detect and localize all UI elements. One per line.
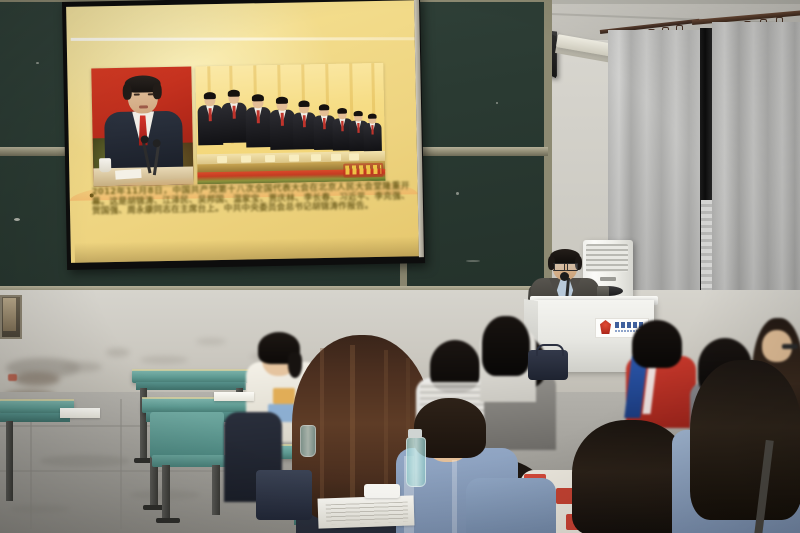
chair-leg bbox=[162, 465, 170, 521]
student-ponytail bbox=[482, 316, 530, 376]
student-long-hair bbox=[690, 360, 800, 520]
photo-banner-text bbox=[345, 165, 381, 175]
slide-portrait-photo bbox=[91, 67, 193, 187]
handbag bbox=[256, 470, 312, 520]
floor-seam bbox=[0, 470, 230, 472]
wall-stain bbox=[62, 362, 102, 372]
notebook-lines bbox=[326, 502, 409, 525]
slide-divider-line bbox=[71, 37, 417, 41]
denim-torso bbox=[466, 478, 556, 533]
photo-person-eye bbox=[148, 93, 154, 95]
chair-leg bbox=[212, 465, 220, 515]
slide-caption-text: 2012年11月8日，中国共产党第十八次全国代表大会在北京人民大会堂隆重开幕。这… bbox=[92, 182, 410, 217]
chalk-mark bbox=[14, 218, 20, 221]
photo-person-eye bbox=[134, 94, 140, 96]
projected-slide: 2012年11月8日，中国共产党第十八次全国代表大会在北京人民大会堂隆重开幕。这… bbox=[66, 0, 419, 263]
photo-paper bbox=[115, 169, 142, 180]
student-chair bbox=[150, 412, 224, 458]
projection-screen: 2012年11月8日，中国共产党第十八次全国代表大会在北京人民大会堂隆重开幕。这… bbox=[62, 0, 427, 274]
paper-sheet bbox=[214, 392, 254, 401]
chair-foot bbox=[156, 518, 180, 523]
water-bottle bbox=[300, 425, 316, 457]
photo-person-mouth bbox=[139, 105, 148, 108]
wall-stain bbox=[140, 356, 188, 364]
wall-stain bbox=[196, 338, 226, 345]
floor-scuff bbox=[10, 505, 70, 513]
water-bottle bbox=[406, 437, 426, 487]
photo-person-hair bbox=[123, 84, 132, 100]
floor-scuff bbox=[40, 455, 130, 467]
wall-paint-chip bbox=[8, 374, 17, 381]
bottle-cap bbox=[408, 429, 422, 438]
student-hair bbox=[632, 320, 682, 368]
tissue-pack bbox=[364, 484, 400, 498]
air-conditioner-vent-icon bbox=[586, 244, 628, 272]
hair-strand bbox=[320, 348, 324, 508]
wall-stain bbox=[106, 348, 130, 357]
chalk-mark bbox=[36, 62, 39, 64]
wall-stain bbox=[14, 372, 60, 386]
classroom-photo: 2012年11月8日，中国共产党第十八次全国代表大会在北京人民大会堂隆重开幕。这… bbox=[0, 0, 800, 533]
microphone-icon bbox=[560, 272, 569, 281]
chalk-mark bbox=[456, 192, 459, 195]
wall-picture bbox=[3, 298, 16, 331]
chalk-mark bbox=[466, 260, 480, 262]
jacket-logo bbox=[273, 388, 295, 404]
bag-handle bbox=[536, 344, 564, 356]
glasses-bridge bbox=[553, 263, 577, 271]
photo-person-hair bbox=[153, 83, 162, 99]
hair-strand bbox=[350, 345, 355, 513]
chalk-mark bbox=[496, 102, 498, 104]
slide-delegation-photo bbox=[195, 63, 385, 185]
air-conditioner-brand bbox=[600, 277, 616, 281]
glasses-icon bbox=[782, 344, 798, 349]
photo-cup bbox=[99, 158, 111, 172]
paper-sheet bbox=[60, 408, 100, 418]
denim-seam bbox=[452, 460, 457, 533]
student-hair-bun bbox=[288, 352, 302, 378]
